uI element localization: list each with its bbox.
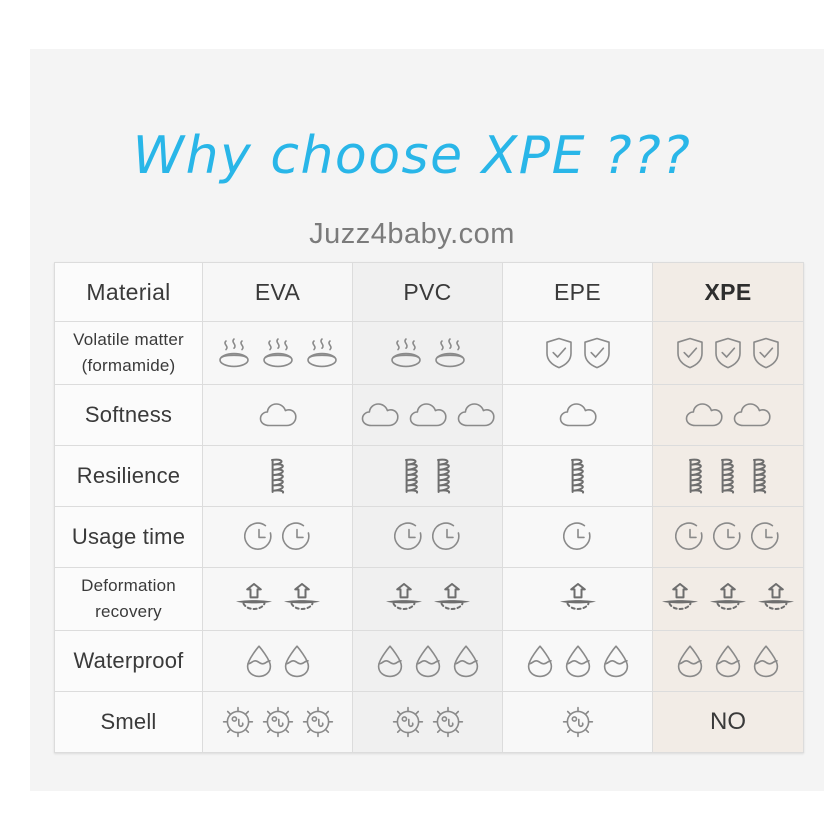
rebound-arrow-icon-group: [353, 568, 502, 630]
header-cell-material: Material: [55, 263, 203, 322]
smell-value-xpe: NO: [710, 708, 746, 735]
header-cell-epe: EPE: [503, 263, 653, 322]
table-row-deformation-recovery: Deformation recovery: [55, 568, 804, 631]
row-label-line2: (formamide): [55, 353, 202, 379]
cell-eva: [203, 692, 353, 753]
row-label: Resilience: [77, 463, 181, 488]
rebound-arrow-icon-group: [503, 568, 652, 630]
clock-icon: [282, 522, 312, 552]
clock-icon: [751, 522, 781, 552]
steam-icon-group: [203, 322, 352, 384]
row-label-cell: Volatile matter (formamide): [55, 322, 203, 385]
water-drop-icon: [713, 644, 743, 678]
shield-check-icon: [544, 336, 574, 370]
cloud-icon: [408, 401, 448, 429]
rebound-arrow-icon: [756, 583, 796, 615]
spring-icon: [432, 456, 456, 496]
cloud-icon: [732, 401, 772, 429]
header-cell-eva: EVA: [203, 263, 353, 322]
cell-epe: [503, 631, 653, 692]
clock-icon: [394, 522, 424, 552]
steam-icon-group: [353, 322, 502, 384]
shield-check-icon: [582, 336, 612, 370]
germ-icon: [562, 706, 594, 738]
cell-pvc: [353, 385, 503, 446]
spring-icon: [684, 456, 708, 496]
page-title: Why choose XPE ???: [0, 126, 824, 186]
cell-pvc: [353, 631, 503, 692]
clock-icon-group: [203, 507, 352, 567]
cloud-icon: [360, 401, 400, 429]
clock-icon-group: [503, 507, 652, 567]
cell-xpe: [653, 446, 804, 507]
cloud-icon-group: [503, 385, 652, 445]
table-row-softness: Softness: [55, 385, 804, 446]
row-label-cell: Smell: [55, 692, 203, 753]
header-label: EVA: [255, 279, 300, 305]
cell-epe: [503, 507, 653, 568]
table-row-volatile-matter: Volatile matter (formamide): [55, 322, 804, 385]
shield-check-icon: [713, 336, 743, 370]
rebound-arrow-icon: [234, 583, 274, 615]
header-label: Material: [86, 279, 170, 305]
cell-pvc: [353, 322, 503, 385]
cell-xpe: [653, 385, 804, 446]
clock-icon: [713, 522, 743, 552]
rebound-arrow-icon: [708, 583, 748, 615]
header-label: EPE: [554, 279, 601, 305]
spring-icon-group: [503, 446, 652, 506]
row-label-cell: Usage time: [55, 507, 203, 568]
germ-icon-group: [353, 692, 502, 752]
cloud-icon-group: [653, 385, 803, 445]
cell-epe: [503, 385, 653, 446]
water-drop-icon: [375, 644, 405, 678]
row-label-line1: Deformation: [55, 573, 202, 599]
cell-eva: [203, 385, 353, 446]
shield-check-icon-group: [503, 322, 652, 384]
water-drop-icon-group: [203, 631, 352, 691]
clock-icon: [432, 522, 462, 552]
row-label: Softness: [85, 402, 172, 427]
rebound-arrow-icon: [660, 583, 700, 615]
shield-check-icon: [675, 336, 705, 370]
header-label: PVC: [403, 279, 451, 305]
water-drop-icon: [563, 644, 593, 678]
clock-icon: [675, 522, 705, 552]
cell-eva: [203, 568, 353, 631]
rebound-arrow-icon: [432, 583, 472, 615]
cell-xpe: [653, 322, 804, 385]
cell-pvc: [353, 568, 503, 631]
cloud-icon: [456, 401, 496, 429]
water-drop-icon: [751, 644, 781, 678]
cell-xpe: [653, 631, 804, 692]
cell-epe: [503, 568, 653, 631]
cell-xpe: NO: [653, 692, 804, 753]
table-row-resilience: Resilience: [55, 446, 804, 507]
cell-pvc: [353, 507, 503, 568]
row-label: Smell: [100, 709, 156, 734]
rebound-arrow-icon-group: [203, 568, 352, 630]
header-cell-xpe: XPE: [653, 263, 804, 322]
cell-epe: [503, 692, 653, 753]
cloud-icon-group: [353, 385, 502, 445]
clock-icon-group: [653, 507, 803, 567]
row-label-cell: Softness: [55, 385, 203, 446]
shield-check-icon-group: [653, 322, 803, 384]
steam-icon: [260, 336, 296, 370]
water-drop-icon: [525, 644, 555, 678]
spring-icon-group: [653, 446, 803, 506]
screenshot-root: Why choose XPE ??? Juzz4baby.com Materia…: [0, 0, 824, 824]
water-drop-icon: [451, 644, 481, 678]
shield-check-icon: [751, 336, 781, 370]
cell-eva: [203, 322, 353, 385]
water-drop-icon: [675, 644, 705, 678]
rebound-arrow-icon-group: [653, 568, 803, 630]
header-label: XPE: [705, 279, 752, 305]
cell-xpe: [653, 507, 804, 568]
germ-icon: [432, 706, 464, 738]
germ-icon: [262, 706, 294, 738]
material-comparison-table: Material EVA PVC EPE XPE: [54, 262, 804, 753]
table-row-usage-time: Usage time: [55, 507, 804, 568]
rebound-arrow-icon: [384, 583, 424, 615]
spring-icon-group: [203, 446, 352, 506]
row-label-cell: Deformation recovery: [55, 568, 203, 631]
germ-icon-group: [203, 692, 352, 752]
water-drop-icon-group: [503, 631, 652, 691]
germ-icon-group: [503, 692, 652, 752]
row-label-cell: Waterproof: [55, 631, 203, 692]
spring-icon: [566, 456, 590, 496]
water-drop-icon-group: [353, 631, 502, 691]
cell-epe: [503, 322, 653, 385]
brand-subtitle: Juzz4baby.com: [0, 218, 824, 251]
row-label: Waterproof: [73, 648, 183, 673]
spring-icon-group: [353, 446, 502, 506]
steam-icon: [388, 336, 424, 370]
water-drop-icon-group: [653, 631, 803, 691]
cell-pvc: [353, 692, 503, 753]
water-drop-icon: [244, 644, 274, 678]
table-header-row: Material EVA PVC EPE XPE: [55, 263, 804, 322]
steam-icon: [432, 336, 468, 370]
cloud-icon: [258, 401, 298, 429]
spring-icon: [716, 456, 740, 496]
spring-icon: [748, 456, 772, 496]
clock-icon-group: [353, 507, 502, 567]
cell-xpe: [653, 568, 804, 631]
cell-eva: [203, 446, 353, 507]
rebound-arrow-icon: [282, 583, 322, 615]
row-label: Usage time: [72, 524, 185, 549]
spring-icon: [266, 456, 290, 496]
water-drop-icon: [282, 644, 312, 678]
cloud-icon: [558, 401, 598, 429]
row-label-cell: Resilience: [55, 446, 203, 507]
cell-pvc: [353, 446, 503, 507]
water-drop-icon: [601, 644, 631, 678]
spring-icon: [400, 456, 424, 496]
row-label-line2: recovery: [55, 599, 202, 625]
clock-icon: [563, 522, 593, 552]
cloud-icon: [684, 401, 724, 429]
steam-icon: [216, 336, 252, 370]
germ-icon: [392, 706, 424, 738]
cell-eva: [203, 631, 353, 692]
cloud-icon-group: [203, 385, 352, 445]
header-cell-pvc: PVC: [353, 263, 503, 322]
germ-icon: [302, 706, 334, 738]
cell-epe: [503, 446, 653, 507]
clock-icon: [244, 522, 274, 552]
cell-eva: [203, 507, 353, 568]
rebound-arrow-icon: [558, 583, 598, 615]
table-row-waterproof: Waterproof: [55, 631, 804, 692]
row-label-line1: Volatile matter: [55, 327, 202, 353]
table-row-smell: Smell NO: [55, 692, 804, 753]
steam-icon: [304, 336, 340, 370]
water-drop-icon: [413, 644, 443, 678]
germ-icon: [222, 706, 254, 738]
